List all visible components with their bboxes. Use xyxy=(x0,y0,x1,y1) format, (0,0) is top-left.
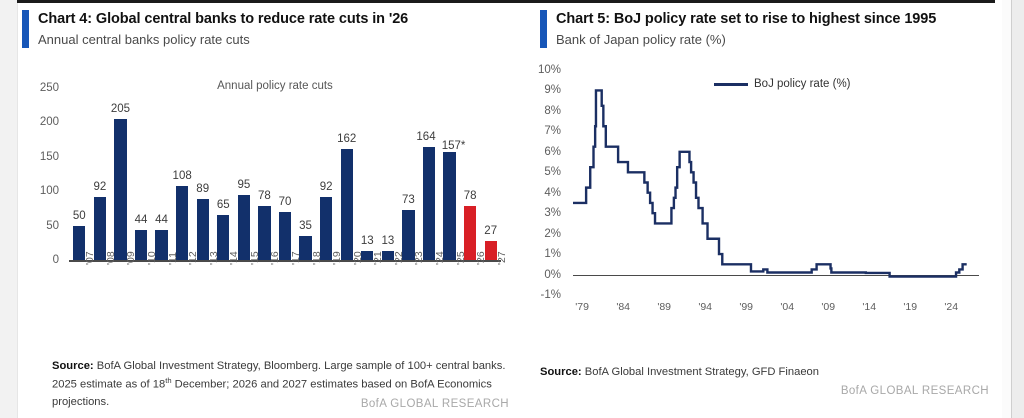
chart5-title: Chart 5: BoJ policy rate set to rise to … xyxy=(556,10,936,30)
chart4-plot-area: 05010015020025050'0792'08205'0944'1044'1… xyxy=(17,62,519,312)
chart5-panel: Chart 5: BoJ policy rate set to rise to … xyxy=(519,0,995,418)
chart4-ytick: 150 xyxy=(17,151,59,163)
chart4-bar-value: 89 xyxy=(196,183,209,195)
chart4-bar[interactable] xyxy=(299,236,311,260)
chart4-bar-value: 70 xyxy=(279,196,292,208)
chart5-line-svg xyxy=(519,62,995,347)
chart4-bar-value: 13 xyxy=(361,235,374,247)
chart4-ytick: 200 xyxy=(17,116,59,128)
chart4-bar-value: 65 xyxy=(217,199,230,211)
chart4-subtitle: Annual central banks policy rate cuts xyxy=(38,31,408,49)
chart4-bar-value: 95 xyxy=(237,179,250,191)
right-edge-strip xyxy=(1011,0,1024,418)
chart4-bar[interactable] xyxy=(443,152,455,260)
chart5-brand: BofA GLOBAL RESEARCH xyxy=(841,385,989,397)
chart4-bar-value: 164 xyxy=(416,131,435,143)
chart4-bar-value: 157* xyxy=(442,140,466,152)
chart5-source-label: Source: xyxy=(540,366,582,378)
chart4-bar-value: 44 xyxy=(155,214,168,226)
chart4-source-label: Source: xyxy=(52,360,94,372)
chart4-brand: BofA GLOBAL RESEARCH xyxy=(361,398,509,410)
chart4-bar-value: 108 xyxy=(173,170,192,182)
chart4-bar[interactable] xyxy=(176,186,188,260)
chart4-panel: Chart 4: Global central banks to reduce … xyxy=(17,0,519,418)
chart4-bar[interactable] xyxy=(197,199,209,260)
top-rule xyxy=(17,0,519,3)
chart4-header: Chart 4: Global central banks to reduce … xyxy=(22,10,408,49)
chart4-bar-value: 13 xyxy=(381,235,394,247)
left-edge-strip xyxy=(0,0,18,418)
chart4-bar[interactable] xyxy=(423,147,435,260)
chart4-bar-value: 73 xyxy=(402,194,415,206)
chart4-bar-value: 162 xyxy=(337,133,356,145)
chart5-plot-area: -1%0%1%2%3%4%5%6%7%8%9%10%'79'84'89'94'9… xyxy=(519,62,995,347)
chart4-bar-value: 92 xyxy=(320,181,333,193)
chart4-ytick: 0 xyxy=(17,254,59,266)
chart4-accent-bar xyxy=(22,10,29,48)
chart4-bar-value: 78 xyxy=(258,190,271,202)
chart4-title: Chart 4: Global central banks to reduce … xyxy=(38,10,408,30)
chart4-bar-value: 27 xyxy=(484,225,497,237)
chart5-accent-bar xyxy=(540,10,547,48)
chart4-annotation: Annual policy rate cuts xyxy=(217,80,333,92)
chart5-series-line xyxy=(573,90,967,276)
chart5-source-text: BofA Global Investment Strategy, GFD Fin… xyxy=(582,366,819,378)
chart4-bar[interactable] xyxy=(114,119,126,260)
chart4-bar-value: 44 xyxy=(135,214,148,226)
chart4-bar-value: 50 xyxy=(73,210,86,222)
chart4-ytick: 50 xyxy=(17,220,59,232)
chart4-ytick: 250 xyxy=(17,82,59,94)
chart5-header: Chart 5: BoJ policy rate set to rise to … xyxy=(540,10,936,49)
chart4-bar[interactable] xyxy=(485,241,497,260)
chart4-bar-value: 35 xyxy=(299,220,312,232)
chart5-source: Source: BofA Global Investment Strategy,… xyxy=(540,364,960,381)
chart4-bar-value: 92 xyxy=(93,181,106,193)
chart4-bar[interactable] xyxy=(155,230,167,260)
top-rule-right xyxy=(519,0,995,3)
chart4-bar[interactable] xyxy=(341,149,353,260)
chart4-ytick: 100 xyxy=(17,185,59,197)
chart4-bar-value: 205 xyxy=(111,103,130,115)
chart4-bar-value: 78 xyxy=(464,190,477,202)
chart4-xtick: '27 xyxy=(496,251,508,265)
chart5-subtitle: Bank of Japan policy rate (%) xyxy=(556,31,936,49)
